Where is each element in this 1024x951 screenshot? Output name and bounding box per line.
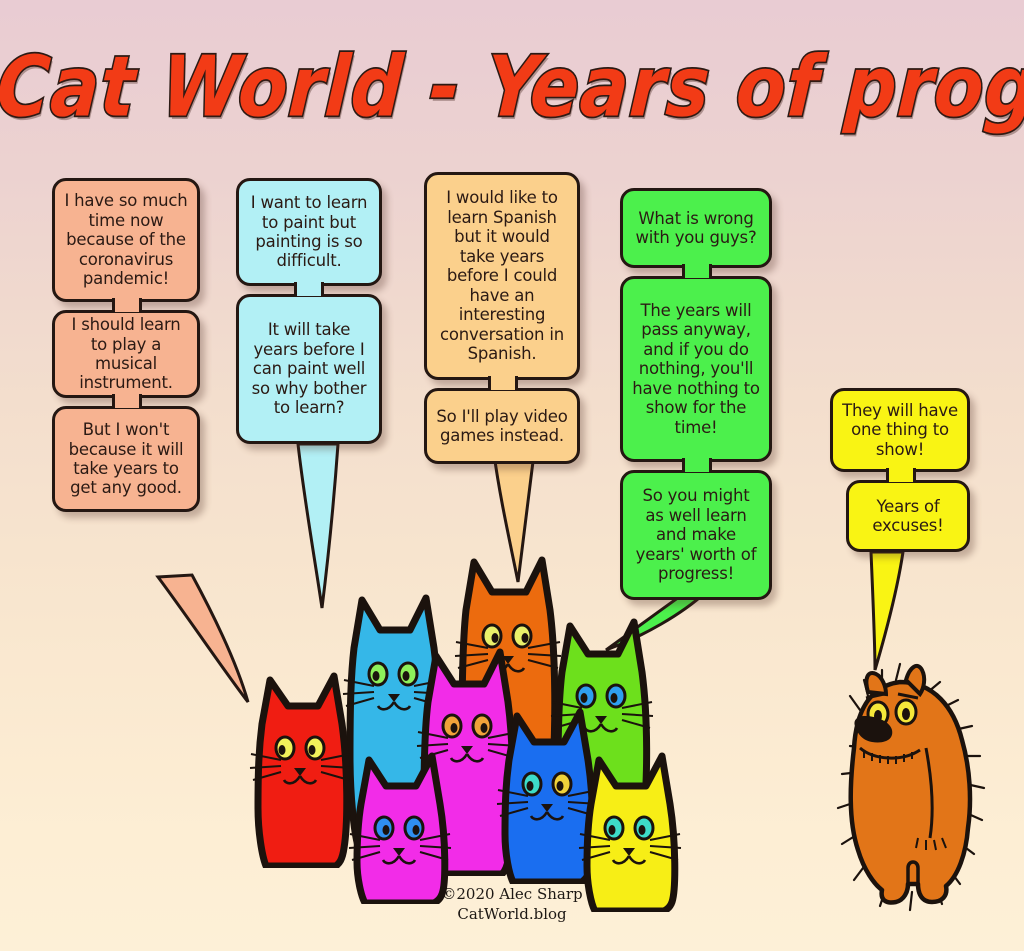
bubble-cyan-1[interactable]: I want to learn to paint but painting is… — [236, 178, 382, 286]
bubble-connector — [112, 394, 142, 408]
bubble-text: Years of excuses! — [858, 497, 958, 536]
bubble-orange-2[interactable]: So I'll play video games instead. — [424, 388, 580, 464]
bubble-connector — [112, 298, 142, 312]
bubble-orange-1[interactable]: I would like to learn Spanish but it wou… — [424, 172, 580, 380]
bubble-red-3[interactable]: But I won't because it will take years t… — [52, 406, 200, 512]
brown-bear — [808, 652, 1008, 922]
bubble-text: So you might as well learn and make year… — [632, 486, 760, 583]
bubble-yellow-1[interactable]: They will have one thing to show! — [830, 388, 970, 472]
yellow-cat — [578, 752, 682, 912]
bubble-red-2[interactable]: I should learn to play a musical instrum… — [52, 310, 200, 398]
bubble-green-1[interactable]: What is wrong with you guys? — [620, 188, 772, 268]
bubble-text: What is wrong with you guys? — [632, 209, 760, 248]
bubble-text: I should learn to play a musical instrum… — [64, 315, 188, 393]
bubble-text: But I won't because it will take years t… — [64, 420, 188, 498]
bubble-text: The years will pass anyway, and if you d… — [632, 301, 760, 437]
bubble-connector — [886, 468, 916, 482]
bubble-red-1[interactable]: I have so much time now because of the c… — [52, 178, 200, 302]
bubble-text: I want to learn to paint but painting is… — [248, 193, 370, 271]
bubble-text: So I'll play video games instead. — [436, 407, 568, 446]
bubble-connector — [488, 376, 518, 390]
red-cat — [248, 668, 356, 868]
bubble-cyan-2[interactable]: It will take years before I can paint we… — [236, 294, 382, 444]
bubble-connector — [682, 458, 712, 472]
page-title: Cat World - Years of progress — [0, 38, 1024, 135]
bubble-connector — [294, 282, 324, 296]
pink-cat-small — [348, 752, 452, 904]
bubble-green-3[interactable]: So you might as well learn and make year… — [620, 470, 772, 600]
bubble-text: They will have one thing to show! — [842, 401, 958, 459]
bubble-text: It will take years before I can paint we… — [248, 320, 370, 417]
bubble-text: I would like to learn Spanish but it wou… — [436, 188, 568, 363]
comic-canvas: Cat World - Years of progress I have so … — [0, 0, 1024, 951]
bubble-connector — [682, 264, 712, 278]
bubble-text: I have so much time now because of the c… — [64, 191, 188, 288]
bubble-green-2[interactable]: The years will pass anyway, and if you d… — [620, 276, 772, 462]
bubble-yellow-2[interactable]: Years of excuses! — [846, 480, 970, 552]
